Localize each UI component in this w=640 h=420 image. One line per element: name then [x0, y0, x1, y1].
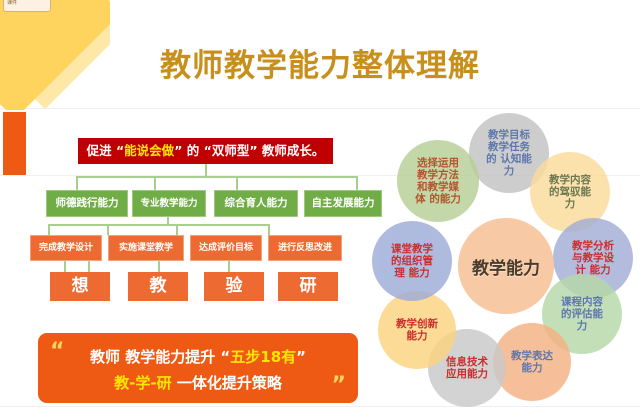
level2-row: 完成教学设计 实施课堂教学 达成评价目标 进行反思改进 — [28, 235, 380, 260]
connector-level2-drop-1 — [107, 224, 109, 235]
teaching-ability-flowchart: 促进 “能说会做” 的 “双师型” 教师成长。 师德践行能力 专业教学能力 综合… — [28, 128, 380, 328]
connector-level1-drop-1 — [154, 176, 156, 190]
connector-level1-drop-3 — [356, 176, 358, 190]
venn-circle-label-0: 教学目标 教学任务 的 认知能 力 — [486, 129, 532, 177]
page-title: 教师教学能力整体理解 — [0, 40, 640, 85]
level2-label-2: 达成评价目标 — [199, 243, 253, 253]
level2-box-0[interactable]: 完成教学设计 — [30, 235, 102, 261]
connector-level2-stem — [167, 216, 169, 224]
venn-circle-6[interactable]: 教学创新 能力 — [378, 291, 456, 369]
level2-box-2[interactable]: 达成评价目标 — [190, 235, 262, 261]
venn-circle-7[interactable]: 课堂教学 的组织管 理 能力 — [372, 221, 452, 301]
strategy-line1-pre: 教师 教学能力提升 “ — [90, 348, 230, 366]
level3-label-3: 研 — [300, 276, 317, 296]
connector-level2-drop-3 — [268, 224, 270, 235]
connector-level3-drop-0 — [64, 260, 66, 272]
corner-chip-label: 课件 — [4, 0, 50, 10]
connector-banner-stem — [205, 164, 207, 176]
level3-box-3[interactable]: 研 — [278, 272, 338, 301]
level1-label-1: 专业教学能力 — [140, 198, 197, 209]
connector-level3-drop-3 — [228, 260, 230, 272]
goal-banner-mid: ” 的 “双师型” 教师成长。 — [174, 143, 324, 158]
level1-box-3[interactable]: 自主发展能力 — [304, 190, 382, 217]
connector-level1-bus — [76, 176, 358, 178]
connector-level1-drop-0 — [76, 176, 78, 190]
teaching-ability-venn-diagram: 教学目标 教学任务 的 认知能 力教学内容 的驾驭能 力教学分析 与教学设 计 … — [372, 108, 640, 420]
venn-circle-label-3: 课程内容 的评估能 力 — [561, 296, 603, 332]
level3-row: 想 教 验 研 — [28, 272, 380, 302]
connector-level2-drop-2 — [176, 224, 178, 235]
goal-banner: 促进 “能说会做” 的 “双师型” 教师成长。 — [78, 138, 333, 164]
level1-label-3: 自主发展能力 — [312, 197, 375, 209]
level3-box-1[interactable]: 教 — [128, 272, 188, 301]
connector-level2-drop-0 — [48, 224, 50, 235]
venn-circle-label-1: 教学内容 的驾驭能 力 — [549, 174, 591, 210]
level2-label-0: 完成教学设计 — [39, 243, 93, 253]
level1-label-2: 综合育人能力 — [225, 197, 288, 209]
corner-chip: 课件 — [3, 0, 51, 12]
strategy-line2-highlight: 教-学-研 — [114, 374, 171, 392]
venn-center-text: 教学能力 — [472, 254, 540, 279]
connector-level1-drop-2 — [236, 176, 238, 190]
goal-banner-pre: 促进 “ — [87, 143, 125, 158]
level2-box-3[interactable]: 进行反思改进 — [268, 235, 342, 261]
level3-box-0[interactable]: 想 — [50, 272, 110, 301]
level3-label-0: 想 — [72, 276, 89, 296]
level2-label-3: 进行反思改进 — [278, 243, 332, 253]
connector-level3-drop-1 — [88, 260, 90, 272]
strategy-line-2: 教-学-研 一体化提升策略 — [38, 372, 358, 393]
level3-box-2[interactable]: 验 — [204, 272, 264, 301]
venn-center-label: 教学能力 — [458, 218, 554, 314]
venn-circle-label-8: 选择运用 教学方法 和教学媒 体 的能力 — [415, 157, 461, 205]
connector-level3-drop-2 — [158, 260, 160, 272]
level3-label-2: 验 — [226, 276, 243, 296]
level2-box-1[interactable]: 实施课堂教学 — [108, 235, 184, 261]
strategy-line1-post: ” — [296, 348, 306, 366]
strategy-line1-highlight: 五步18有 — [230, 348, 296, 366]
strategy-line2-post: 一体化提升策略 — [172, 374, 282, 392]
level3-label-1: 教 — [150, 276, 167, 296]
strategy-banner[interactable]: “ ” 教师 教学能力提升 “五步18有” 教-学-研 一体化提升策略 — [38, 333, 358, 403]
level1-label-0: 师德践行能力 — [56, 197, 119, 209]
left-accent-bar — [3, 112, 26, 175]
venn-circle-label-4: 教学表达 能力 — [511, 350, 553, 374]
venn-circle-label-2: 教学分析 与教学设 计 能力 — [572, 240, 614, 276]
venn-circle-label-7: 课堂教学 的组织管 理 能力 — [391, 243, 433, 279]
level1-box-2[interactable]: 综合育人能力 — [214, 190, 298, 217]
level1-box-1[interactable]: 专业教学能力 — [132, 190, 206, 217]
venn-circle-label-6: 教学创新 能力 — [396, 318, 438, 342]
level2-label-1: 实施课堂教学 — [119, 243, 173, 253]
level1-row: 师德践行能力 专业教学能力 综合育人能力 自主发展能力 — [28, 190, 380, 216]
level1-box-0[interactable]: 师德践行能力 — [46, 190, 128, 217]
goal-banner-highlight: 能说会做 — [124, 143, 174, 158]
venn-circle-8[interactable]: 选择运用 教学方法 和教学媒 体 的能力 — [397, 140, 479, 222]
strategy-line-1: 教师 教学能力提升 “五步18有” — [38, 346, 358, 367]
venn-circle-label-5: 信息技术 应用能力 — [446, 356, 488, 380]
connector-level2-bus — [48, 224, 270, 226]
